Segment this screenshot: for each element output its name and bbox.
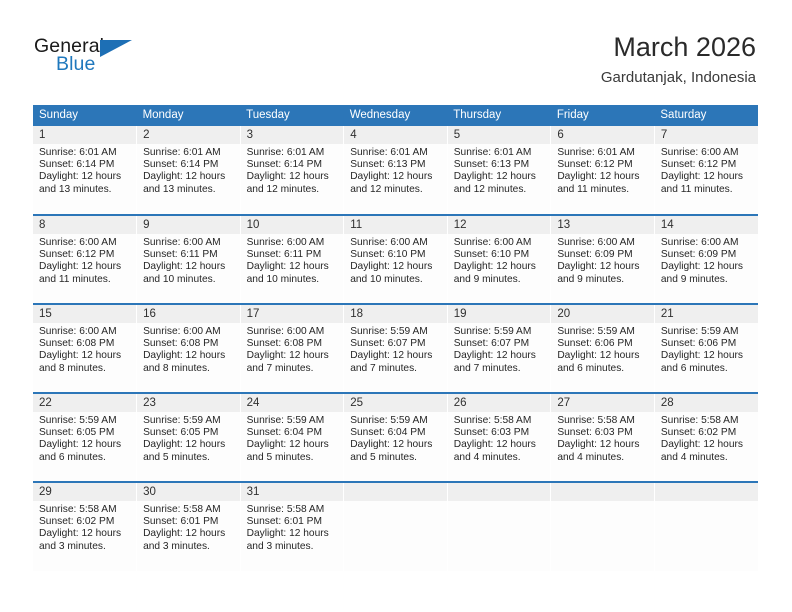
day-number: 9 <box>137 216 240 234</box>
daylight-text: Daylight: 12 hours <box>143 528 234 540</box>
day-cell-inner: 19Sunrise: 5:59 AMSunset: 6:07 PMDayligh… <box>448 305 551 392</box>
daylight-text-cont: and 12 minutes. <box>247 184 338 196</box>
daylight-text: Daylight: 12 hours <box>39 261 130 273</box>
daylight-text-cont: and 11 minutes. <box>661 184 752 196</box>
day-cell-inner: 28Sunrise: 5:58 AMSunset: 6:02 PMDayligh… <box>655 394 758 481</box>
day-cell-details: Sunrise: 5:59 AMSunset: 6:04 PMDaylight:… <box>344 412 447 464</box>
day-cell-inner <box>344 483 447 571</box>
sunset-text: Sunset: 6:11 PM <box>143 249 234 261</box>
daylight-text-cont: and 7 minutes. <box>454 363 545 375</box>
day-cell-inner: 23Sunrise: 5:59 AMSunset: 6:05 PMDayligh… <box>137 394 240 481</box>
sunset-text: Sunset: 6:12 PM <box>39 249 130 261</box>
daylight-text-cont: and 6 minutes. <box>39 452 130 464</box>
day-cell-inner: 29Sunrise: 5:58 AMSunset: 6:02 PMDayligh… <box>33 483 136 571</box>
day-cell-details: Sunrise: 5:58 AMSunset: 6:01 PMDaylight:… <box>137 501 240 553</box>
daylight-text-cont: and 3 minutes. <box>39 541 130 553</box>
calendar-day-cell[interactable]: 6Sunrise: 6:01 AMSunset: 6:12 PMDaylight… <box>551 126 655 215</box>
day-cell-details <box>344 501 447 504</box>
calendar-day-cell[interactable]: 19Sunrise: 5:59 AMSunset: 6:07 PMDayligh… <box>447 304 551 393</box>
day-cell-inner: 14Sunrise: 6:00 AMSunset: 6:09 PMDayligh… <box>655 216 758 303</box>
daylight-text-cont: and 10 minutes. <box>143 274 234 286</box>
day-number: 27 <box>551 394 654 412</box>
day-cell-details: Sunrise: 6:00 AMSunset: 6:09 PMDaylight:… <box>551 234 654 286</box>
daylight-text: Daylight: 12 hours <box>350 350 441 362</box>
day-cell-inner: 2Sunrise: 6:01 AMSunset: 6:14 PMDaylight… <box>137 126 240 214</box>
daylight-text-cont: and 6 minutes. <box>557 363 648 375</box>
day-number <box>655 483 758 501</box>
sunrise-text: Sunrise: 5:59 AM <box>350 326 441 338</box>
daylight-text-cont: and 9 minutes. <box>454 274 545 286</box>
day-cell-details: Sunrise: 6:01 AMSunset: 6:14 PMDaylight:… <box>33 144 136 196</box>
day-number: 5 <box>448 126 551 144</box>
sunrise-text: Sunrise: 6:00 AM <box>557 237 648 249</box>
day-cell-details <box>655 501 758 504</box>
sunrise-text: Sunrise: 5:59 AM <box>247 415 338 427</box>
sunrise-text: Sunrise: 6:01 AM <box>350 147 441 159</box>
calendar-day-cell-empty <box>551 482 655 571</box>
sunset-text: Sunset: 6:14 PM <box>39 159 130 171</box>
daylight-text-cont: and 8 minutes. <box>39 363 130 375</box>
daylight-text: Daylight: 12 hours <box>350 171 441 183</box>
logo-text-blue: Blue <box>56 54 95 74</box>
calendar-day-cell[interactable]: 7Sunrise: 6:00 AMSunset: 6:12 PMDaylight… <box>654 126 758 215</box>
sunrise-text: Sunrise: 6:00 AM <box>247 237 338 249</box>
sunset-text: Sunset: 6:10 PM <box>454 249 545 261</box>
day-number: 21 <box>655 305 758 323</box>
sunset-text: Sunset: 6:04 PM <box>350 427 441 439</box>
day-cell-inner: 26Sunrise: 5:58 AMSunset: 6:03 PMDayligh… <box>448 394 551 481</box>
sunrise-text: Sunrise: 5:59 AM <box>350 415 441 427</box>
day-cell-details <box>551 501 654 504</box>
calendar-day-cell[interactable]: 15Sunrise: 6:00 AMSunset: 6:08 PMDayligh… <box>33 304 137 393</box>
sunset-text: Sunset: 6:08 PM <box>247 338 338 350</box>
calendar-day-cell[interactable]: 27Sunrise: 5:58 AMSunset: 6:03 PMDayligh… <box>551 393 655 482</box>
daylight-text: Daylight: 12 hours <box>39 171 130 183</box>
page-header: General Blue March 2026 Gardutanjak, Ind… <box>0 0 792 100</box>
day-number: 23 <box>137 394 240 412</box>
day-number: 28 <box>655 394 758 412</box>
day-cell-inner: 1Sunrise: 6:01 AMSunset: 6:14 PMDaylight… <box>33 126 136 214</box>
day-number <box>551 483 654 501</box>
daylight-text: Daylight: 12 hours <box>247 528 338 540</box>
calendar-day-cell[interactable]: 17Sunrise: 6:00 AMSunset: 6:08 PMDayligh… <box>240 304 344 393</box>
daylight-text: Daylight: 12 hours <box>454 350 545 362</box>
sunrise-text: Sunrise: 6:01 AM <box>454 147 545 159</box>
sunrise-text: Sunrise: 6:01 AM <box>557 147 648 159</box>
calendar-body: 1Sunrise: 6:01 AMSunset: 6:14 PMDaylight… <box>33 126 758 571</box>
calendar-day-cell[interactable]: 12Sunrise: 6:00 AMSunset: 6:10 PMDayligh… <box>447 215 551 304</box>
sunrise-text: Sunrise: 5:58 AM <box>454 415 545 427</box>
day-cell-details: Sunrise: 6:00 AMSunset: 6:11 PMDaylight:… <box>241 234 344 286</box>
day-cell-inner: 6Sunrise: 6:01 AMSunset: 6:12 PMDaylight… <box>551 126 654 214</box>
day-cell-details: Sunrise: 5:58 AMSunset: 6:02 PMDaylight:… <box>33 501 136 553</box>
daylight-text: Daylight: 12 hours <box>143 350 234 362</box>
day-cell-details: Sunrise: 5:59 AMSunset: 6:06 PMDaylight:… <box>551 323 654 375</box>
calendar-day-cell[interactable]: 29Sunrise: 5:58 AMSunset: 6:02 PMDayligh… <box>33 482 137 571</box>
blue-triangle-logo-icon <box>100 40 132 57</box>
daylight-text-cont: and 5 minutes. <box>350 452 441 464</box>
day-cell-details: Sunrise: 5:58 AMSunset: 6:01 PMDaylight:… <box>241 501 344 553</box>
calendar-day-cell[interactable]: 18Sunrise: 5:59 AMSunset: 6:07 PMDayligh… <box>344 304 448 393</box>
sunset-text: Sunset: 6:10 PM <box>350 249 441 261</box>
sunset-text: Sunset: 6:07 PM <box>454 338 545 350</box>
daylight-text-cont: and 9 minutes. <box>661 274 752 286</box>
sunrise-sunset-calendar: Sunday Monday Tuesday Wednesday Thursday… <box>33 105 758 571</box>
day-cell-details: Sunrise: 5:59 AMSunset: 6:05 PMDaylight:… <box>137 412 240 464</box>
day-number: 12 <box>448 216 551 234</box>
weekday-header-tuesday: Tuesday <box>240 105 344 126</box>
day-cell-details: Sunrise: 6:00 AMSunset: 6:08 PMDaylight:… <box>137 323 240 375</box>
daylight-text: Daylight: 12 hours <box>247 439 338 451</box>
sunrise-text: Sunrise: 6:01 AM <box>247 147 338 159</box>
calendar-week-row: 29Sunrise: 5:58 AMSunset: 6:02 PMDayligh… <box>33 482 758 571</box>
day-cell-inner: 25Sunrise: 5:59 AMSunset: 6:04 PMDayligh… <box>344 394 447 481</box>
sunset-text: Sunset: 6:08 PM <box>143 338 234 350</box>
day-cell-inner: 13Sunrise: 6:00 AMSunset: 6:09 PMDayligh… <box>551 216 654 303</box>
daylight-text-cont: and 8 minutes. <box>143 363 234 375</box>
daylight-text-cont: and 7 minutes. <box>350 363 441 375</box>
day-number <box>344 483 447 501</box>
daylight-text: Daylight: 12 hours <box>350 261 441 273</box>
sunset-text: Sunset: 6:07 PM <box>350 338 441 350</box>
day-cell-details <box>448 501 551 504</box>
calendar-day-cell[interactable]: 14Sunrise: 6:00 AMSunset: 6:09 PMDayligh… <box>654 215 758 304</box>
sunset-text: Sunset: 6:09 PM <box>661 249 752 261</box>
day-cell-details: Sunrise: 6:00 AMSunset: 6:11 PMDaylight:… <box>137 234 240 286</box>
daylight-text: Daylight: 12 hours <box>143 439 234 451</box>
day-cell-inner: 10Sunrise: 6:00 AMSunset: 6:11 PMDayligh… <box>241 216 344 303</box>
daylight-text: Daylight: 12 hours <box>143 261 234 273</box>
calendar-day-cell[interactable]: 13Sunrise: 6:00 AMSunset: 6:09 PMDayligh… <box>551 215 655 304</box>
sunrise-text: Sunrise: 5:59 AM <box>143 415 234 427</box>
day-cell-inner: 15Sunrise: 6:00 AMSunset: 6:08 PMDayligh… <box>33 305 136 392</box>
day-number: 19 <box>448 305 551 323</box>
day-number: 11 <box>344 216 447 234</box>
day-cell-details: Sunrise: 6:00 AMSunset: 6:08 PMDaylight:… <box>241 323 344 375</box>
daylight-text-cont: and 11 minutes. <box>557 184 648 196</box>
day-number: 8 <box>33 216 136 234</box>
day-cell-details: Sunrise: 6:00 AMSunset: 6:10 PMDaylight:… <box>448 234 551 286</box>
calendar-day-cell[interactable]: 31Sunrise: 5:58 AMSunset: 6:01 PMDayligh… <box>240 482 344 571</box>
calendar-week-row: 8Sunrise: 6:00 AMSunset: 6:12 PMDaylight… <box>33 215 758 304</box>
daylight-text-cont: and 10 minutes. <box>350 274 441 286</box>
day-cell-inner: 18Sunrise: 5:59 AMSunset: 6:07 PMDayligh… <box>344 305 447 392</box>
day-cell-inner: 3Sunrise: 6:01 AMSunset: 6:14 PMDaylight… <box>241 126 344 214</box>
sunset-text: Sunset: 6:14 PM <box>247 159 338 171</box>
sunset-text: Sunset: 6:02 PM <box>661 427 752 439</box>
sunrise-text: Sunrise: 5:59 AM <box>39 415 130 427</box>
daylight-text-cont: and 3 minutes. <box>143 541 234 553</box>
daylight-text: Daylight: 12 hours <box>350 439 441 451</box>
calendar-day-cell[interactable]: 3Sunrise: 6:01 AMSunset: 6:14 PMDaylight… <box>240 126 344 215</box>
daylight-text: Daylight: 12 hours <box>39 350 130 362</box>
day-cell-inner: 21Sunrise: 5:59 AMSunset: 6:06 PMDayligh… <box>655 305 758 392</box>
sunrise-text: Sunrise: 5:58 AM <box>39 504 130 516</box>
day-cell-inner: 5Sunrise: 6:01 AMSunset: 6:13 PMDaylight… <box>448 126 551 214</box>
daylight-text: Daylight: 12 hours <box>39 439 130 451</box>
day-cell-details: Sunrise: 5:59 AMSunset: 6:06 PMDaylight:… <box>655 323 758 375</box>
day-number: 26 <box>448 394 551 412</box>
sunset-text: Sunset: 6:08 PM <box>39 338 130 350</box>
page-title: March 2026 <box>601 30 756 64</box>
calendar-week-row: 1Sunrise: 6:01 AMSunset: 6:14 PMDaylight… <box>33 126 758 215</box>
daylight-text: Daylight: 12 hours <box>557 350 648 362</box>
daylight-text-cont: and 13 minutes. <box>143 184 234 196</box>
daylight-text-cont: and 4 minutes. <box>557 452 648 464</box>
daylight-text-cont: and 4 minutes. <box>661 452 752 464</box>
weekday-header-friday: Friday <box>551 105 655 126</box>
day-number: 18 <box>344 305 447 323</box>
calendar-day-cell[interactable]: 9Sunrise: 6:00 AMSunset: 6:11 PMDaylight… <box>137 215 241 304</box>
day-number: 10 <box>241 216 344 234</box>
sunset-text: Sunset: 6:02 PM <box>39 516 130 528</box>
sunset-text: Sunset: 6:01 PM <box>143 516 234 528</box>
daylight-text-cont: and 11 minutes. <box>39 274 130 286</box>
daylight-text: Daylight: 12 hours <box>247 350 338 362</box>
sunrise-text: Sunrise: 6:01 AM <box>39 147 130 159</box>
day-number: 3 <box>241 126 344 144</box>
day-number: 13 <box>551 216 654 234</box>
calendar-day-cell-empty <box>447 482 551 571</box>
daylight-text-cont: and 10 minutes. <box>247 274 338 286</box>
day-cell-inner: 16Sunrise: 6:00 AMSunset: 6:08 PMDayligh… <box>137 305 240 392</box>
day-number: 25 <box>344 394 447 412</box>
day-cell-details: Sunrise: 6:01 AMSunset: 6:14 PMDaylight:… <box>241 144 344 196</box>
day-cell-inner <box>655 483 758 571</box>
sunrise-text: Sunrise: 5:58 AM <box>143 504 234 516</box>
weekday-header-monday: Monday <box>137 105 241 126</box>
sunset-text: Sunset: 6:05 PM <box>143 427 234 439</box>
sunrise-text: Sunrise: 5:58 AM <box>557 415 648 427</box>
day-number: 24 <box>241 394 344 412</box>
sunrise-text: Sunrise: 6:00 AM <box>661 237 752 249</box>
day-number: 6 <box>551 126 654 144</box>
daylight-text-cont: and 12 minutes. <box>350 184 441 196</box>
general-blue-logo[interactable]: General Blue <box>34 36 214 84</box>
sunset-text: Sunset: 6:12 PM <box>661 159 752 171</box>
day-cell-details: Sunrise: 6:00 AMSunset: 6:12 PMDaylight:… <box>33 234 136 286</box>
daylight-text: Daylight: 12 hours <box>557 261 648 273</box>
sunset-text: Sunset: 6:14 PM <box>143 159 234 171</box>
day-cell-details: Sunrise: 6:01 AMSunset: 6:13 PMDaylight:… <box>448 144 551 196</box>
day-number: 17 <box>241 305 344 323</box>
sunrise-text: Sunrise: 6:00 AM <box>143 326 234 338</box>
calendar-week-row: 22Sunrise: 5:59 AMSunset: 6:05 PMDayligh… <box>33 393 758 482</box>
sunset-text: Sunset: 6:11 PM <box>247 249 338 261</box>
day-cell-inner: 31Sunrise: 5:58 AMSunset: 6:01 PMDayligh… <box>241 483 344 571</box>
sunrise-text: Sunrise: 6:00 AM <box>661 147 752 159</box>
calendar-day-cell[interactable]: 2Sunrise: 6:01 AMSunset: 6:14 PMDaylight… <box>137 126 241 215</box>
day-cell-inner: 11Sunrise: 6:00 AMSunset: 6:10 PMDayligh… <box>344 216 447 303</box>
calendar-day-cell[interactable]: 22Sunrise: 5:59 AMSunset: 6:05 PMDayligh… <box>33 393 137 482</box>
day-number: 29 <box>33 483 136 501</box>
daylight-text: Daylight: 12 hours <box>557 439 648 451</box>
calendar-day-cell[interactable]: 16Sunrise: 6:00 AMSunset: 6:08 PMDayligh… <box>137 304 241 393</box>
day-cell-inner <box>448 483 551 571</box>
day-cell-inner: 7Sunrise: 6:00 AMSunset: 6:12 PMDaylight… <box>655 126 758 214</box>
daylight-text-cont: and 13 minutes. <box>39 184 130 196</box>
day-number: 31 <box>241 483 344 501</box>
day-cell-details: Sunrise: 5:58 AMSunset: 6:02 PMDaylight:… <box>655 412 758 464</box>
day-cell-inner: 20Sunrise: 5:59 AMSunset: 6:06 PMDayligh… <box>551 305 654 392</box>
sunset-text: Sunset: 6:03 PM <box>454 427 545 439</box>
sunrise-text: Sunrise: 5:58 AM <box>247 504 338 516</box>
calendar-day-cell[interactable]: 11Sunrise: 6:00 AMSunset: 6:10 PMDayligh… <box>344 215 448 304</box>
daylight-text-cont: and 5 minutes. <box>143 452 234 464</box>
daylight-text: Daylight: 12 hours <box>661 261 752 273</box>
day-cell-details: Sunrise: 5:58 AMSunset: 6:03 PMDaylight:… <box>448 412 551 464</box>
daylight-text: Daylight: 12 hours <box>454 439 545 451</box>
sunrise-text: Sunrise: 5:59 AM <box>557 326 648 338</box>
sunset-text: Sunset: 6:01 PM <box>247 516 338 528</box>
day-cell-inner: 4Sunrise: 6:01 AMSunset: 6:13 PMDaylight… <box>344 126 447 214</box>
calendar-day-cell[interactable]: 28Sunrise: 5:58 AMSunset: 6:02 PMDayligh… <box>654 393 758 482</box>
title-block: March 2026 Gardutanjak, Indonesia <box>601 30 756 89</box>
calendar-day-cell[interactable]: 25Sunrise: 5:59 AMSunset: 6:04 PMDayligh… <box>344 393 448 482</box>
daylight-text-cont: and 12 minutes. <box>454 184 545 196</box>
day-cell-inner: 30Sunrise: 5:58 AMSunset: 6:01 PMDayligh… <box>137 483 240 571</box>
sunrise-text: Sunrise: 5:59 AM <box>454 326 545 338</box>
sunrise-text: Sunrise: 5:58 AM <box>661 415 752 427</box>
day-cell-inner: 9Sunrise: 6:00 AMSunset: 6:11 PMDaylight… <box>137 216 240 303</box>
sunrise-text: Sunrise: 6:00 AM <box>143 237 234 249</box>
sunset-text: Sunset: 6:04 PM <box>247 427 338 439</box>
day-number: 7 <box>655 126 758 144</box>
daylight-text: Daylight: 12 hours <box>661 350 752 362</box>
daylight-text-cont: and 7 minutes. <box>247 363 338 375</box>
day-number: 14 <box>655 216 758 234</box>
calendar-day-cell[interactable]: 10Sunrise: 6:00 AMSunset: 6:11 PMDayligh… <box>240 215 344 304</box>
sunset-text: Sunset: 6:06 PM <box>661 338 752 350</box>
sunrise-text: Sunrise: 6:00 AM <box>454 237 545 249</box>
day-cell-details: Sunrise: 6:01 AMSunset: 6:12 PMDaylight:… <box>551 144 654 196</box>
calendar-day-cell[interactable]: 4Sunrise: 6:01 AMSunset: 6:13 PMDaylight… <box>344 126 448 215</box>
calendar-day-cell[interactable]: 21Sunrise: 5:59 AMSunset: 6:06 PMDayligh… <box>654 304 758 393</box>
sunset-text: Sunset: 6:12 PM <box>557 159 648 171</box>
sunset-text: Sunset: 6:09 PM <box>557 249 648 261</box>
day-cell-details: Sunrise: 6:00 AMSunset: 6:09 PMDaylight:… <box>655 234 758 286</box>
day-cell-inner: 27Sunrise: 5:58 AMSunset: 6:03 PMDayligh… <box>551 394 654 481</box>
daylight-text: Daylight: 12 hours <box>143 171 234 183</box>
day-number: 2 <box>137 126 240 144</box>
calendar-page: General Blue March 2026 Gardutanjak, Ind… <box>0 0 792 612</box>
calendar-day-cell[interactable]: 23Sunrise: 5:59 AMSunset: 6:05 PMDayligh… <box>137 393 241 482</box>
day-cell-details: Sunrise: 6:00 AMSunset: 6:08 PMDaylight:… <box>33 323 136 375</box>
day-number: 4 <box>344 126 447 144</box>
sunset-text: Sunset: 6:13 PM <box>350 159 441 171</box>
day-cell-inner <box>551 483 654 571</box>
daylight-text: Daylight: 12 hours <box>557 171 648 183</box>
day-cell-details: Sunrise: 5:59 AMSunset: 6:07 PMDaylight:… <box>344 323 447 375</box>
day-cell-details: Sunrise: 6:01 AMSunset: 6:13 PMDaylight:… <box>344 144 447 196</box>
day-cell-inner: 12Sunrise: 6:00 AMSunset: 6:10 PMDayligh… <box>448 216 551 303</box>
day-cell-details: Sunrise: 5:59 AMSunset: 6:04 PMDaylight:… <box>241 412 344 464</box>
weekday-header-wednesday: Wednesday <box>344 105 448 126</box>
day-cell-inner: 24Sunrise: 5:59 AMSunset: 6:04 PMDayligh… <box>241 394 344 481</box>
sunrise-text: Sunrise: 5:59 AM <box>661 326 752 338</box>
day-number: 16 <box>137 305 240 323</box>
daylight-text: Daylight: 12 hours <box>39 528 130 540</box>
day-cell-details: Sunrise: 5:58 AMSunset: 6:03 PMDaylight:… <box>551 412 654 464</box>
daylight-text: Daylight: 12 hours <box>661 171 752 183</box>
sunset-text: Sunset: 6:06 PM <box>557 338 648 350</box>
sunset-text: Sunset: 6:03 PM <box>557 427 648 439</box>
day-number: 1 <box>33 126 136 144</box>
daylight-text-cont: and 6 minutes. <box>661 363 752 375</box>
calendar-day-cell[interactable]: 30Sunrise: 5:58 AMSunset: 6:01 PMDayligh… <box>137 482 241 571</box>
calendar-day-cell[interactable]: 26Sunrise: 5:58 AMSunset: 6:03 PMDayligh… <box>447 393 551 482</box>
day-cell-details: Sunrise: 6:00 AMSunset: 6:12 PMDaylight:… <box>655 144 758 196</box>
sunset-text: Sunset: 6:13 PM <box>454 159 545 171</box>
calendar-day-cell[interactable]: 5Sunrise: 6:01 AMSunset: 6:13 PMDaylight… <box>447 126 551 215</box>
calendar-week-row: 15Sunrise: 6:00 AMSunset: 6:08 PMDayligh… <box>33 304 758 393</box>
weekday-header-thursday: Thursday <box>447 105 551 126</box>
calendar-day-cell[interactable]: 20Sunrise: 5:59 AMSunset: 6:06 PMDayligh… <box>551 304 655 393</box>
calendar-day-cell-empty <box>654 482 758 571</box>
day-number: 30 <box>137 483 240 501</box>
sunrise-text: Sunrise: 6:01 AM <box>143 147 234 159</box>
sunrise-text: Sunrise: 6:00 AM <box>247 326 338 338</box>
calendar-header-row: Sunday Monday Tuesday Wednesday Thursday… <box>33 105 758 126</box>
daylight-text: Daylight: 12 hours <box>454 171 545 183</box>
sunrise-text: Sunrise: 6:00 AM <box>39 326 130 338</box>
daylight-text: Daylight: 12 hours <box>247 171 338 183</box>
daylight-text-cont: and 9 minutes. <box>557 274 648 286</box>
daylight-text: Daylight: 12 hours <box>661 439 752 451</box>
daylight-text-cont: and 3 minutes. <box>247 541 338 553</box>
day-cell-details: Sunrise: 5:59 AMSunset: 6:07 PMDaylight:… <box>448 323 551 375</box>
day-number: 15 <box>33 305 136 323</box>
day-number: 20 <box>551 305 654 323</box>
calendar-day-cell[interactable]: 1Sunrise: 6:01 AMSunset: 6:14 PMDaylight… <box>33 126 137 215</box>
day-cell-inner: 22Sunrise: 5:59 AMSunset: 6:05 PMDayligh… <box>33 394 136 481</box>
day-cell-details: Sunrise: 6:00 AMSunset: 6:10 PMDaylight:… <box>344 234 447 286</box>
daylight-text: Daylight: 12 hours <box>247 261 338 273</box>
calendar-day-cell[interactable]: 24Sunrise: 5:59 AMSunset: 6:04 PMDayligh… <box>240 393 344 482</box>
day-cell-details: Sunrise: 6:01 AMSunset: 6:14 PMDaylight:… <box>137 144 240 196</box>
calendar-day-cell-empty <box>344 482 448 571</box>
daylight-text-cont: and 5 minutes. <box>247 452 338 464</box>
day-number: 22 <box>33 394 136 412</box>
location-subtitle: Gardutanjak, Indonesia <box>601 67 756 89</box>
day-number <box>448 483 551 501</box>
day-cell-inner: 17Sunrise: 6:00 AMSunset: 6:08 PMDayligh… <box>241 305 344 392</box>
sunset-text: Sunset: 6:05 PM <box>39 427 130 439</box>
day-cell-details: Sunrise: 5:59 AMSunset: 6:05 PMDaylight:… <box>33 412 136 464</box>
weekday-header-sunday: Sunday <box>33 105 137 126</box>
daylight-text: Daylight: 12 hours <box>454 261 545 273</box>
calendar-day-cell[interactable]: 8Sunrise: 6:00 AMSunset: 6:12 PMDaylight… <box>33 215 137 304</box>
daylight-text-cont: and 4 minutes. <box>454 452 545 464</box>
weekday-header-saturday: Saturday <box>654 105 758 126</box>
day-cell-inner: 8Sunrise: 6:00 AMSunset: 6:12 PMDaylight… <box>33 216 136 303</box>
sunrise-text: Sunrise: 6:00 AM <box>39 237 130 249</box>
sunrise-text: Sunrise: 6:00 AM <box>350 237 441 249</box>
